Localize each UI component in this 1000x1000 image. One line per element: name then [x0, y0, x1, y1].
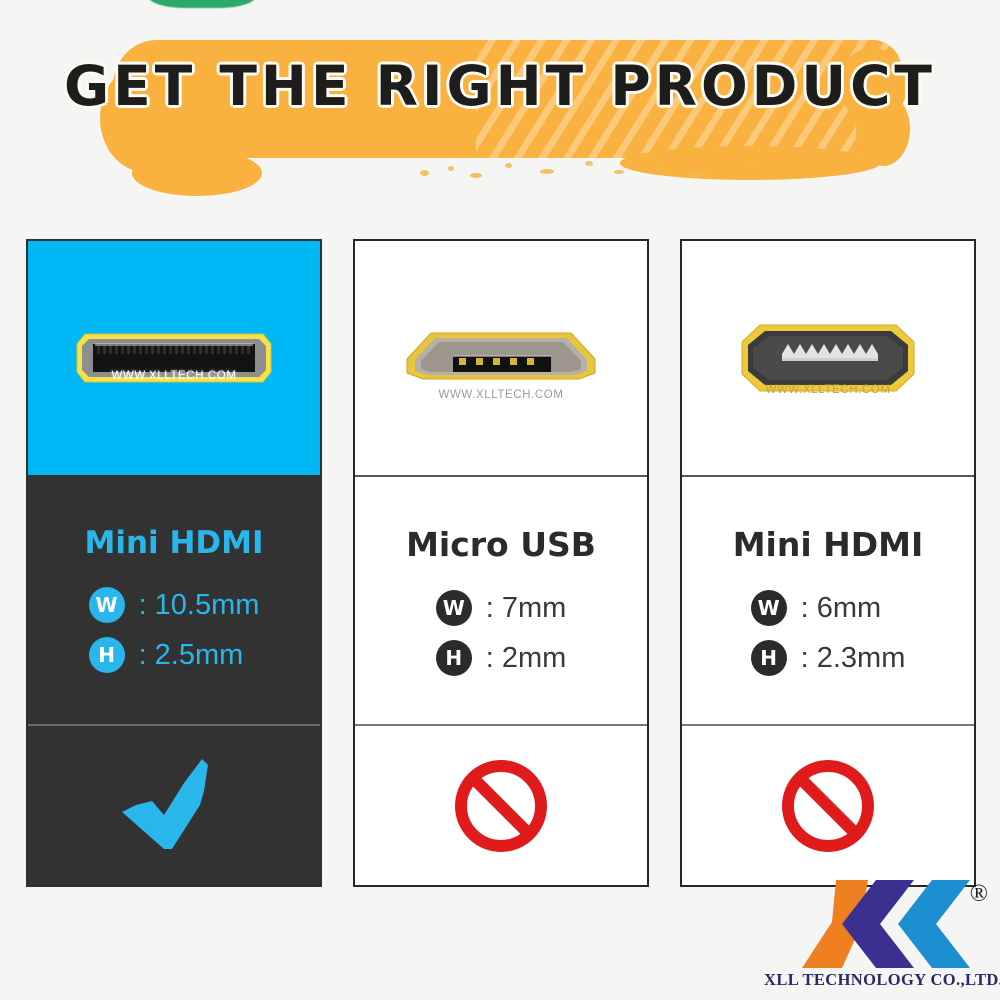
card-image-pane: WWW.XLLTECH.COM	[682, 241, 974, 475]
brush-speck	[690, 172, 706, 177]
product-name: Micro USB	[406, 525, 596, 564]
height-value: : 2.3mm	[801, 642, 906, 675]
no-entry-icon	[780, 758, 876, 854]
product-name: Mini HDMI	[733, 525, 924, 564]
card-verdict-pane	[28, 724, 320, 885]
brush-speck	[470, 173, 482, 178]
brush-speck	[448, 166, 454, 171]
company-name: XLL TECHNOLOGY CO.,LTD.	[764, 970, 990, 990]
card-verdict-pane	[682, 724, 974, 885]
banner: GET THE RIGHT PRODUCT	[0, 30, 1000, 190]
height-value: : 2.5mm	[139, 639, 244, 672]
card-image-pane: WWW.XLLTECH.COM	[28, 241, 320, 475]
product-card-micro-usb-wrong[interactable]: WWW.XLLTECH.COM Micro USB W : 7mm H : 2m…	[353, 239, 649, 887]
spec-list: W : 10.5mm H : 2.5mm	[89, 587, 260, 673]
brush-speck	[614, 170, 624, 174]
brush-speck	[505, 163, 512, 168]
height-badge-icon: H	[436, 640, 472, 676]
spec-row-height: H : 2.3mm	[751, 640, 906, 676]
mini-hdmi-connector-icon: WWW.XLLTECH.COM	[738, 322, 918, 394]
height-badge-icon: H	[751, 640, 787, 676]
brush-speck	[420, 170, 429, 176]
width-value: : 10.5mm	[139, 589, 260, 622]
card-info-pane: Micro USB W : 7mm H : 2mm	[355, 475, 647, 724]
product-card-mini-hdmi-wrong[interactable]: WWW.XLLTECH.COM Mini HDMI W : 6mm H : 2.…	[680, 239, 976, 887]
check-mark-icon	[120, 757, 228, 855]
no-entry-icon	[453, 758, 549, 854]
width-value: : 7mm	[486, 592, 567, 625]
card-info-pane: Mini HDMI W : 10.5mm H : 2.5mm	[28, 475, 320, 724]
page-title: GET THE RIGHT PRODUCT	[0, 54, 1000, 118]
brush-speck	[656, 165, 662, 169]
product-comparison-cards: WWW.XLLTECH.COM Mini HDMI W : 10.5mm H :…	[26, 239, 976, 887]
spec-row-height: H : 2.5mm	[89, 637, 260, 673]
mini-hdmi-female-connector-icon: WWW.XLLTECH.COM	[71, 328, 277, 388]
product-card-mini-hdmi-correct[interactable]: WWW.XLLTECH.COM Mini HDMI W : 10.5mm H :…	[26, 239, 322, 887]
spec-list: W : 7mm H : 2mm	[436, 590, 567, 676]
card-image-pane: WWW.XLLTECH.COM	[355, 241, 647, 475]
spec-row-width: W : 6mm	[751, 590, 906, 626]
spec-list: W : 6mm H : 2.3mm	[751, 590, 906, 676]
brush-lobe	[132, 150, 262, 196]
spec-row-width: W : 10.5mm	[89, 587, 260, 623]
card-verdict-pane	[355, 724, 647, 885]
width-badge-icon: W	[751, 590, 787, 626]
spec-row-width: W : 7mm	[436, 590, 567, 626]
top-green-brush-sliver	[148, 0, 256, 8]
registered-trademark-icon: ®	[970, 882, 988, 906]
spec-row-height: H : 2mm	[436, 640, 567, 676]
micro-usb-connector-icon: WWW.XLLTECH.COM	[401, 329, 601, 387]
brush-speck	[540, 169, 554, 174]
card-info-pane: Mini HDMI W : 6mm H : 2.3mm	[682, 475, 974, 724]
brush-speck	[585, 161, 593, 166]
brush-speck	[745, 162, 754, 166]
width-value: : 6mm	[801, 592, 882, 625]
watermark-text: WWW.XLLTECH.COM	[438, 389, 563, 401]
xll-chevron-mark-icon	[764, 876, 990, 976]
height-badge-icon: H	[89, 637, 125, 673]
width-badge-icon: W	[89, 587, 125, 623]
height-value: : 2mm	[486, 642, 567, 675]
company-logo: ® XLL TECHNOLOGY CO.,LTD.	[764, 876, 990, 994]
product-name: Mini HDMI	[84, 525, 263, 561]
width-badge-icon: W	[436, 590, 472, 626]
